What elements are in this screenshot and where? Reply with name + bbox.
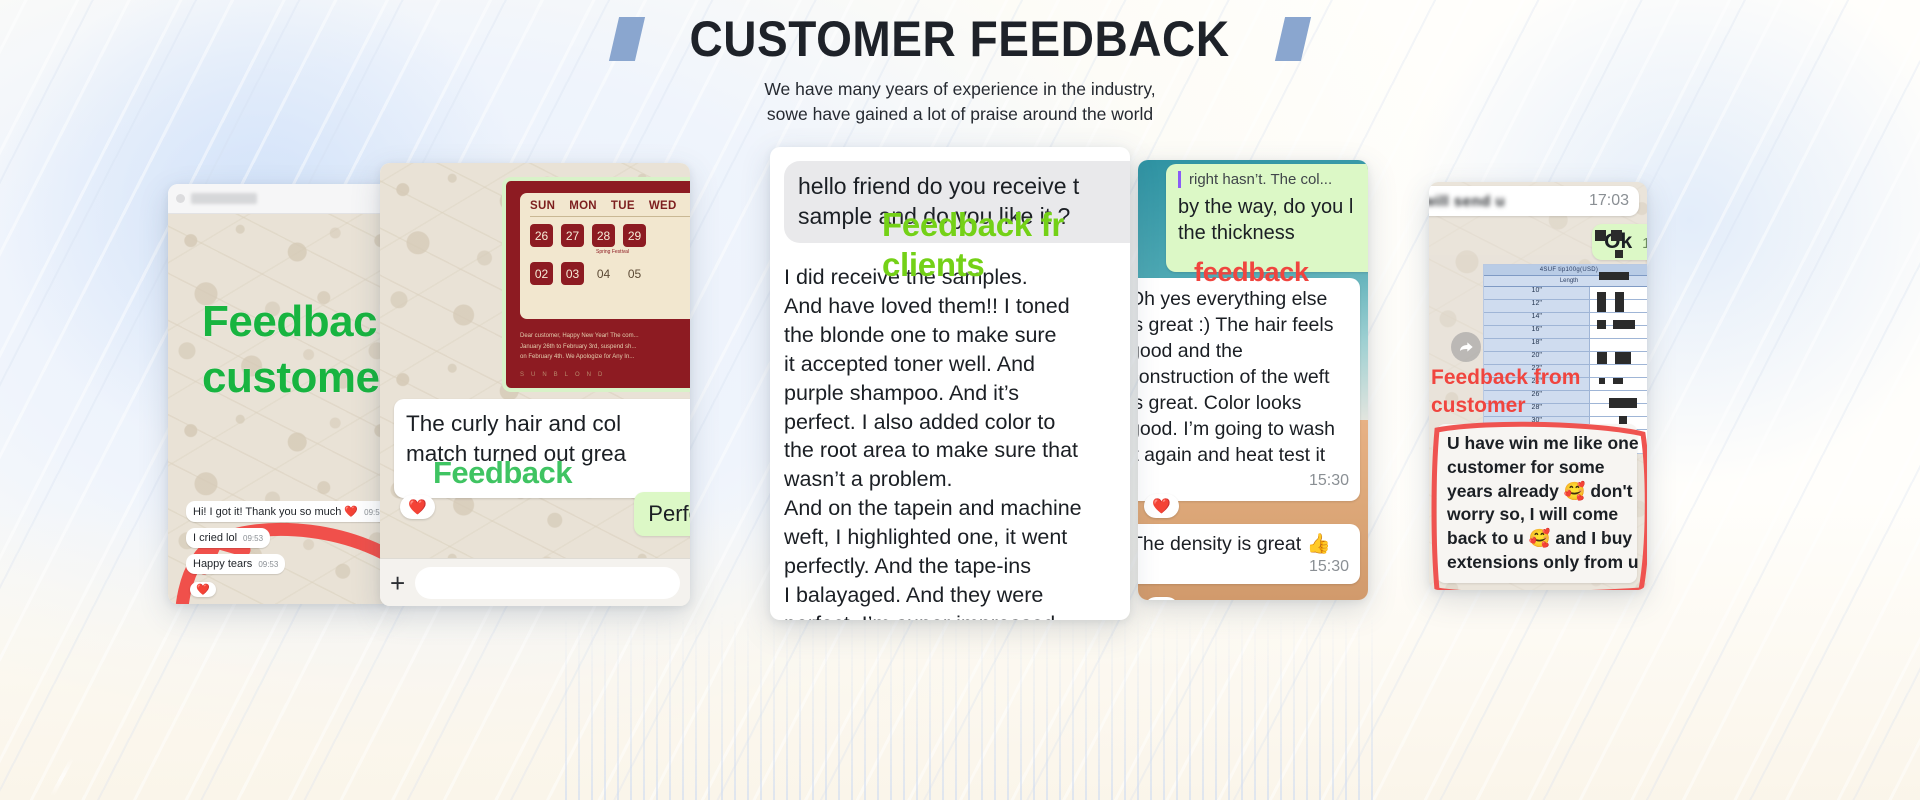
share-arrow-icon[interactable] bbox=[1451, 332, 1481, 362]
day-header: MON bbox=[569, 200, 597, 212]
calendar-day: 02 bbox=[530, 262, 553, 285]
message-time: 09:53 bbox=[243, 534, 263, 543]
window-dot-icon bbox=[176, 194, 185, 203]
reply-line: construction of the weft bbox=[1138, 365, 1349, 391]
card3-watermark: Feedback fr clients bbox=[882, 205, 1130, 286]
reply-line: good. I’m going to wash bbox=[1138, 417, 1349, 443]
chat-bubble[interactable]: Happy tears09:53 bbox=[186, 554, 285, 574]
incoming-line-1: hello friend do you receive t bbox=[798, 172, 1130, 202]
subtitle-line-2: sowe have gained a lot of praise around … bbox=[0, 102, 1920, 127]
body-line: perfect. I’m super impressed bbox=[784, 610, 1118, 620]
card1-watermark-line-2: customer bbox=[202, 350, 390, 406]
chat-composer[interactable]: + bbox=[380, 558, 690, 606]
chat-bubble[interactable]: Hi! I got it! Thank you so much ❤️09:53 bbox=[186, 501, 390, 522]
block-swatch bbox=[1613, 320, 1635, 329]
sheet-length: 16" bbox=[1484, 326, 1589, 338]
decorative-parallelogram-right bbox=[1274, 17, 1310, 61]
calendar-day: 29 bbox=[623, 224, 646, 247]
red-circle-annotation bbox=[1431, 394, 1647, 590]
block-swatch bbox=[1599, 272, 1629, 280]
reply-line: good and the bbox=[1138, 339, 1349, 365]
calendar-week-2: 02 03 04 05 bbox=[530, 262, 690, 285]
card3-testimonial-body: I did receive the samples. And have love… bbox=[770, 255, 1130, 620]
feedback-card-5[interactable]: will send u 17:03 Ok 17: 4SUF tip100g(US… bbox=[1429, 182, 1647, 590]
body-line: purple shampoo. And it’s bbox=[784, 379, 1118, 408]
share-glyph bbox=[1458, 339, 1474, 355]
body-line: weft, I highlighted one, it went bbox=[784, 523, 1118, 552]
day-header: TUE bbox=[611, 200, 635, 212]
card5-top-bubble[interactable]: will send u 17:03 bbox=[1429, 186, 1639, 216]
title-row: CUSTOMER FEEDBACK bbox=[0, 14, 1920, 64]
calendar-note: Spring Festival bbox=[596, 249, 690, 255]
calendar-day: 27 bbox=[561, 224, 584, 247]
body-line: And on the tapein and machine bbox=[784, 494, 1118, 523]
heart-reaction-icon[interactable]: ❤️ bbox=[1144, 494, 1179, 518]
reply-line: is great :) The hair feels bbox=[1138, 313, 1349, 339]
calendar-week-1: 26 27 28 29 bbox=[530, 224, 690, 247]
card3-watermark-line-1: Feedback fr bbox=[882, 205, 1130, 245]
sheet-length: 12" bbox=[1484, 300, 1589, 312]
page-subtitle: We have many years of experience in the … bbox=[0, 77, 1920, 128]
outgoing-line-1: by the way, do you l bbox=[1178, 194, 1368, 220]
card2-shared-image[interactable]: SUN MON TUE WED 26 27 28 29 Spring Festi… bbox=[502, 177, 690, 392]
block-swatch bbox=[1615, 292, 1624, 312]
card4-incoming-bubble[interactable]: Oh yes everything else is great :) The h… bbox=[1138, 278, 1360, 501]
card4-density-bubble[interactable]: The density is great 👍 15:30 bbox=[1138, 524, 1360, 584]
calendar-widget: SUN MON TUE WED 26 27 28 29 Spring Festi… bbox=[520, 193, 690, 319]
body-line: perfectly. And the tape-ins bbox=[784, 552, 1118, 581]
message-time: 17:03 bbox=[1589, 192, 1629, 210]
density-text: The density is great 👍 bbox=[1138, 533, 1331, 555]
card3-watermark-line-2: clients bbox=[882, 245, 1130, 285]
card4-watermark: feedback bbox=[1194, 257, 1309, 288]
sheet-length: 18" bbox=[1484, 339, 1589, 351]
card2-reply-bubble[interactable]: Perfect bbox=[634, 492, 690, 536]
card1-watermark-line-1: Feedback bbox=[202, 294, 390, 350]
calendar-day: 28 bbox=[592, 224, 615, 247]
feedback-card-2[interactable]: SUN MON TUE WED 26 27 28 29 Spring Festi… bbox=[380, 163, 690, 606]
reaction-row[interactable]: ❤️ bbox=[1144, 597, 1179, 600]
calendar-day: 26 bbox=[530, 224, 553, 247]
attach-plus-icon[interactable]: + bbox=[390, 570, 405, 596]
chat-bubble[interactable]: I cried lol09:53 bbox=[186, 528, 270, 548]
reaction-row[interactable]: ❤️ bbox=[1144, 494, 1179, 518]
reaction-row[interactable]: ❤️ bbox=[190, 580, 390, 598]
message-text: I cried lol bbox=[193, 532, 237, 544]
body-line: And have loved them!! I toned bbox=[784, 292, 1118, 321]
sheet-length: 10" bbox=[1484, 287, 1589, 299]
sheet-length: 20" bbox=[1484, 352, 1589, 364]
calendar-day: 05 bbox=[623, 262, 646, 285]
card5-watermark: Feedback from customer bbox=[1431, 364, 1647, 420]
calendar-notice-text: Dear customer, Happy New Year! The com..… bbox=[520, 331, 690, 363]
heart-reaction-icon[interactable]: ❤️ bbox=[400, 495, 435, 519]
block-swatch bbox=[1615, 250, 1623, 258]
message-text: Happy tears bbox=[193, 558, 252, 570]
reaction-row[interactable]: ❤️ bbox=[400, 495, 435, 519]
body-line: it accepted toner well. And bbox=[784, 350, 1118, 379]
notice-line-1: Dear customer, Happy New Year! The com..… bbox=[520, 331, 690, 342]
message-time: 09:53 bbox=[258, 560, 278, 569]
calendar-day: 04 bbox=[592, 262, 615, 285]
quoted-reply-text: right hasn’t. The col... bbox=[1178, 171, 1368, 188]
card1-watermark: Feedback customer bbox=[202, 294, 390, 407]
blurred-title-text bbox=[191, 193, 257, 204]
block-swatch bbox=[1597, 352, 1607, 364]
card5-watermark-line-2: customer bbox=[1431, 392, 1647, 420]
feedback-card-1[interactable]: Feedback customer Hi! I got it! Thank yo… bbox=[168, 184, 390, 604]
body-line: perfect. I also added color to bbox=[784, 408, 1118, 437]
heart-reaction-icon[interactable]: ❤️ bbox=[1144, 597, 1179, 600]
message-text: Hi! I got it! Thank you so much ❤️ bbox=[193, 506, 358, 518]
decorative-parallelogram-left bbox=[609, 17, 645, 61]
card1-window-titlebar bbox=[168, 184, 390, 214]
day-header: SUN bbox=[530, 200, 555, 212]
chat-message-row[interactable]: Happy tears09:53 bbox=[186, 554, 390, 580]
block-swatch bbox=[1615, 352, 1631, 364]
body-line: the root area to make sure that bbox=[784, 436, 1118, 465]
blurred-message-text: will send u bbox=[1429, 193, 1505, 210]
sheet-length: 14" bbox=[1484, 313, 1589, 325]
reply-line: is great. Color looks bbox=[1138, 391, 1349, 417]
card2-watermark: Feedback bbox=[433, 455, 572, 491]
page-header: CUSTOMER FEEDBACK We have many years of … bbox=[0, 0, 1920, 128]
block-swatch bbox=[1611, 230, 1622, 241]
reply-line: Oh yes everything else bbox=[1138, 287, 1349, 313]
density-time: 15:30 bbox=[1138, 558, 1349, 576]
day-header: WED bbox=[649, 200, 677, 212]
subtitle-line-1: We have many years of experience in the … bbox=[0, 77, 1920, 102]
card1-chat-body: Feedback customer Hi! I got it! Thank yo… bbox=[168, 214, 390, 604]
feedback-card-4[interactable]: right hasn’t. The col... by the way, do … bbox=[1138, 160, 1368, 600]
brand-wordmark: SUNBLOND bbox=[520, 372, 609, 378]
page-title: CUSTOMER FEEDBACK bbox=[690, 14, 1230, 64]
block-swatch bbox=[1595, 230, 1606, 241]
body-line: I balayaged. And they were bbox=[784, 581, 1118, 610]
body-line: the blonde one to make sure bbox=[784, 321, 1118, 350]
notice-line-2: January 26th to February 3rd, suspend sh… bbox=[520, 342, 690, 353]
outgoing-line-2: the thickness bbox=[1178, 220, 1368, 246]
card4-outgoing-bubble[interactable]: right hasn’t. The col... by the way, do … bbox=[1166, 164, 1368, 272]
chat-message-row[interactable]: Hi! I got it! Thank you so much ❤️09:53 bbox=[186, 501, 390, 528]
notice-line-3: on February 4th. We Apologize for Any In… bbox=[520, 352, 690, 363]
body-line: wasn’t a problem. bbox=[784, 465, 1118, 494]
card5-watermark-line-1: Feedback from bbox=[1431, 364, 1647, 392]
block-swatch bbox=[1597, 292, 1606, 312]
heart-reaction-icon[interactable]: ❤️ bbox=[190, 582, 216, 597]
calendar-day-headers: SUN MON TUE WED bbox=[530, 200, 690, 217]
reply-time: 15:30 bbox=[1309, 470, 1349, 491]
card1-message-list: Hi! I got it! Thank you so much ❤️09:53 … bbox=[186, 501, 390, 598]
quote-line-1: The curly hair and col bbox=[406, 409, 690, 439]
calendar-day: 03 bbox=[561, 262, 584, 285]
chat-message-row[interactable]: I cried lol09:53 bbox=[186, 528, 390, 554]
message-input[interactable] bbox=[415, 567, 680, 599]
feedback-card-3[interactable]: hello friend do you receive t sample and… bbox=[770, 147, 1130, 620]
block-swatch bbox=[1597, 320, 1606, 329]
reply-line: it again and heat test it bbox=[1138, 443, 1349, 469]
